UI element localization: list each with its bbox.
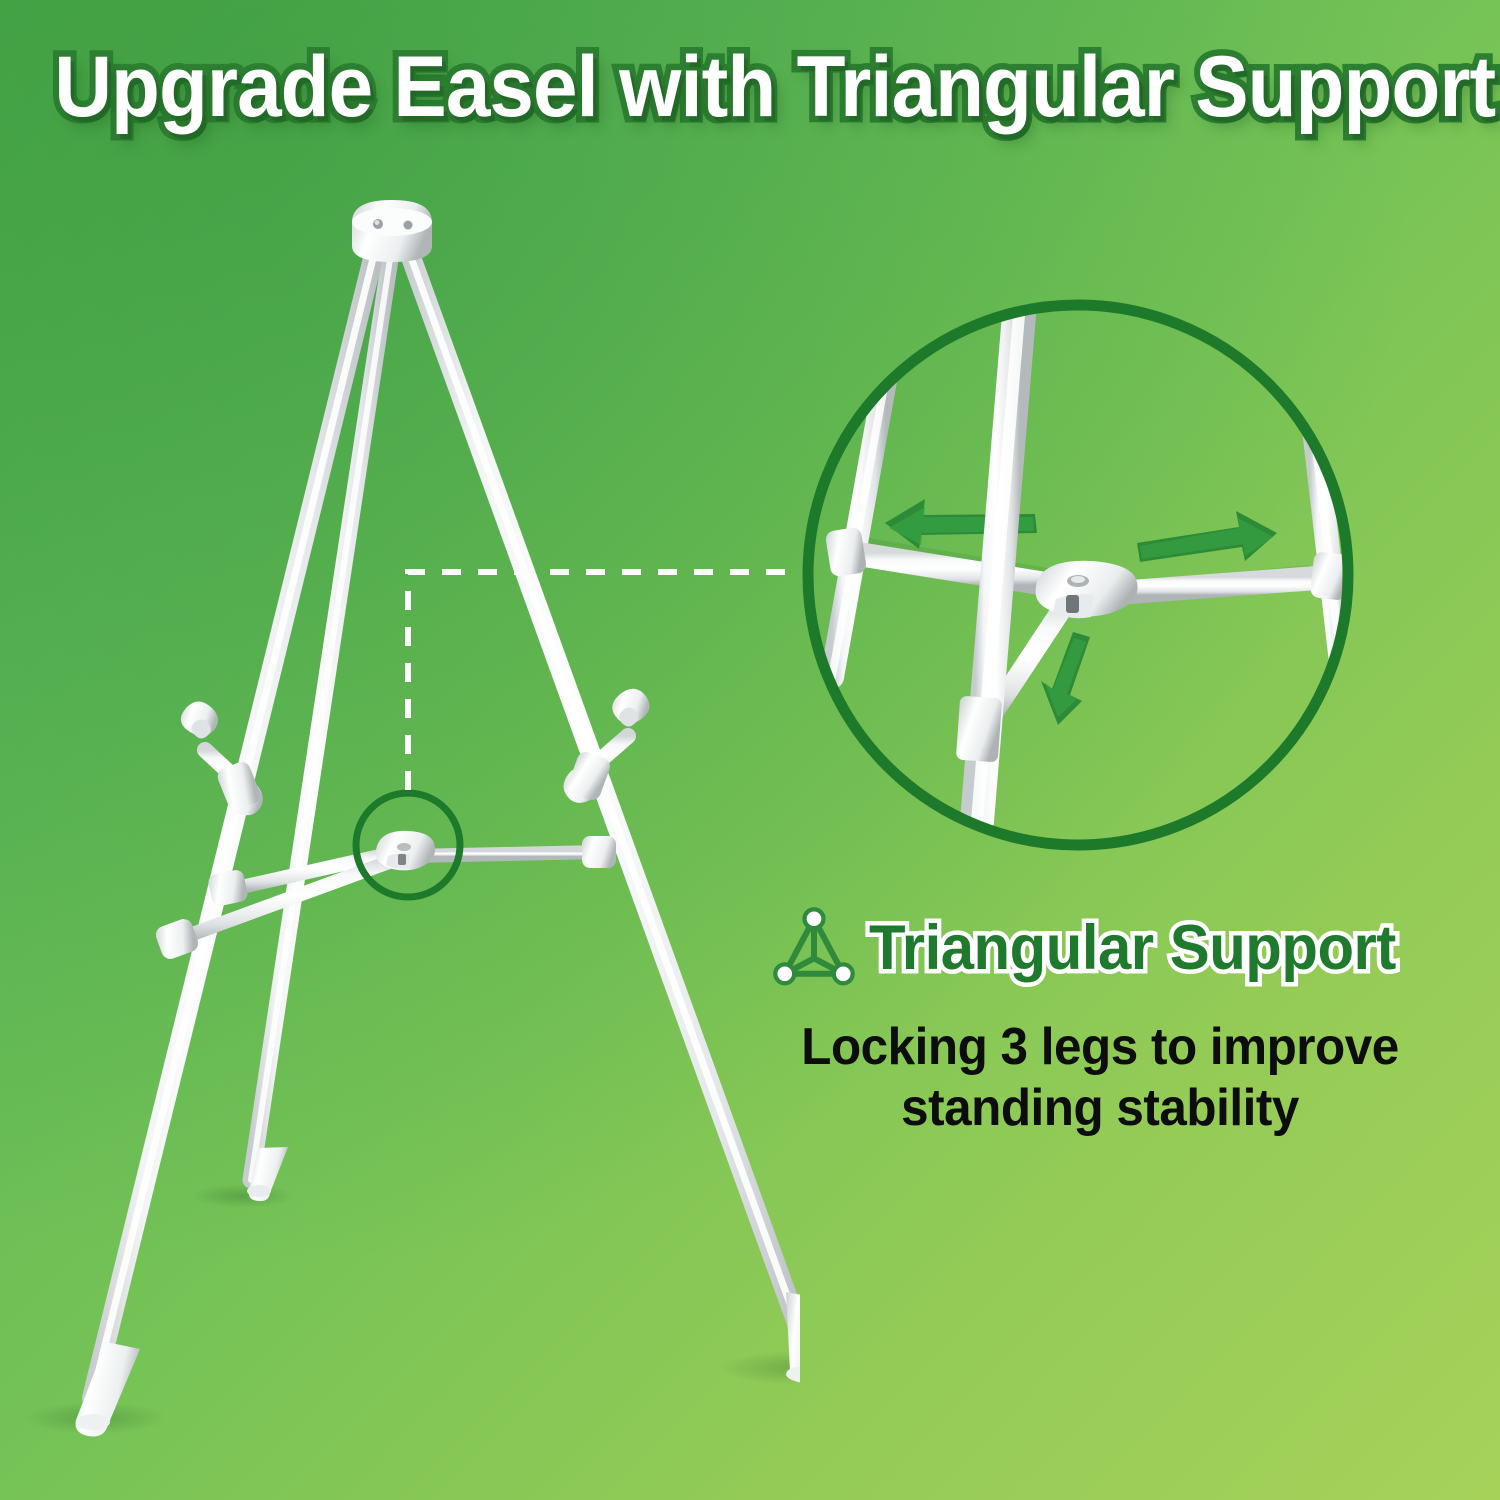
- detail-leg-sleeve: [956, 696, 1002, 763]
- brace-right-clamp: [582, 836, 616, 868]
- tripod-triangle-icon: [771, 905, 857, 991]
- foot-shadow-right: [720, 1351, 800, 1385]
- tripod-node-right: [834, 964, 853, 983]
- hub-latch: [1066, 595, 1079, 613]
- rear-leg: [247, 246, 392, 1201]
- front-right-leg: [404, 238, 800, 1383]
- cross-brace-right: [412, 836, 616, 868]
- page-title: Upgrade Easel with Triangular Support: [54, 44, 1495, 130]
- apex-screw-2: [404, 221, 413, 230]
- main-easel-illustration: [0, 150, 800, 1500]
- arrow-right-icon: [1137, 511, 1277, 562]
- tripod-node-top: [804, 909, 823, 928]
- title-banner: Upgrade Easel with Triangular Support: [0, 44, 1500, 130]
- feature-block: Triangular Support Locking 3 legs to imp…: [700, 905, 1500, 1140]
- detail-callout-view: [790, 285, 1370, 865]
- center-hub: [376, 831, 435, 870]
- detail-center-hub: [1036, 561, 1138, 618]
- apex-screw-1-hi: [375, 220, 380, 225]
- front-left-leg: [76, 238, 379, 1437]
- detail-left-clamp: [825, 526, 868, 577]
- apex-cap: [352, 200, 432, 262]
- feature-subtitle: Locking 3 legs to improve standing stabi…: [720, 1017, 1480, 1140]
- feature-heading-row: Triangular Support: [694, 905, 1500, 991]
- feature-title: Triangular Support: [869, 915, 1396, 981]
- product-marketing-image: Upgrade Easel with Triangular Support: [0, 0, 1500, 1500]
- foot-shadow-rear: [191, 1184, 295, 1208]
- tripod-node-left: [775, 964, 794, 983]
